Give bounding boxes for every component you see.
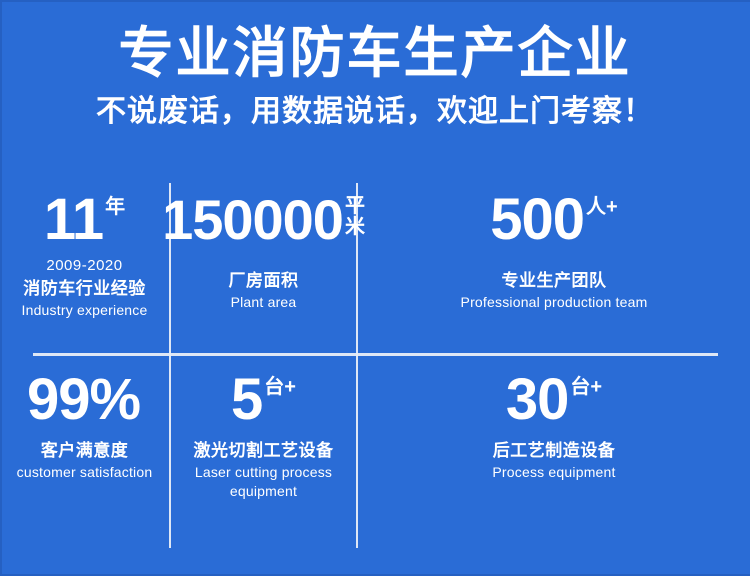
stat-label-cn: 激光切割工艺设备 (171, 440, 356, 462)
stat-cell-customer-satisfaction: 99% 客户满意度 customer satisfaction (0, 368, 169, 538)
stat-value-line: 30 台+ (358, 368, 750, 432)
stat-unit: 人+ (584, 188, 618, 218)
stat-label-cn: 消防车行业经验 (0, 278, 169, 300)
stat-value: 5 (231, 368, 262, 432)
stat-unit: 台+ (568, 368, 602, 398)
stat-value-line: 11 年 (0, 188, 169, 252)
stat-cell-industry-experience: 11 年 2009-2020 消防车行业经验 Industry experien… (0, 188, 169, 348)
stat-value: 30 (506, 368, 569, 432)
banner-header: 专业消防车生产企业 不说废话，用数据说话，欢迎上门考察！ (0, 22, 750, 130)
stat-value: 150000 (162, 188, 343, 252)
stat-value: 500 (490, 188, 584, 252)
stat-value: 11 (44, 188, 103, 252)
stat-value-line: 150000 平米 (171, 188, 356, 252)
stat-label-cn: 客户满意度 (0, 440, 169, 462)
stat-cell-laser-cutting-equipment: 5 台+ 激光切割工艺设备 Laser cutting process equi… (171, 368, 356, 538)
stats-grid: 11 年 2009-2020 消防车行业经验 Industry experien… (0, 178, 750, 554)
stat-label-en: Professional production team (358, 293, 750, 312)
stat-unit: 年 (103, 188, 125, 218)
stat-label-en: Industry experience (0, 301, 169, 320)
stat-cell-production-team: 500 人+ 专业生产团队 Professional production te… (358, 188, 750, 348)
stat-cell-plant-area: 150000 平米 厂房面积 Plant area (171, 188, 356, 348)
stat-label-en: Laser cutting process equipment (171, 463, 356, 501)
stat-label-en: Plant area (171, 293, 356, 312)
stat-label-en: Process equipment (358, 463, 750, 482)
stat-label-cn: 后工艺制造设备 (358, 440, 750, 462)
stat-value-line: 500 人+ (358, 188, 750, 252)
stat-unit (140, 368, 142, 376)
horizontal-divider (33, 353, 718, 356)
stat-value-line: 5 台+ (171, 368, 356, 432)
stat-unit: 台+ (262, 368, 296, 398)
company-stats-banner: 专业消防车生产企业 不说废话，用数据说话，欢迎上门考察！ 11 年 2009-2… (0, 0, 750, 576)
stat-cell-process-equipment: 30 台+ 后工艺制造设备 Process equipment (358, 368, 750, 538)
page-subtitle: 不说废话，用数据说话，欢迎上门考察！ (0, 94, 750, 130)
stat-value-line: 99% (0, 368, 169, 432)
stat-label-en: customer satisfaction (0, 463, 169, 482)
stat-year-range: 2009-2020 (0, 256, 169, 275)
stat-label-cn: 厂房面积 (171, 270, 356, 292)
page-title: 专业消防车生产企业 (0, 22, 750, 84)
stat-value: 99% (27, 368, 140, 432)
stat-label-cn: 专业生产团队 (358, 270, 750, 292)
